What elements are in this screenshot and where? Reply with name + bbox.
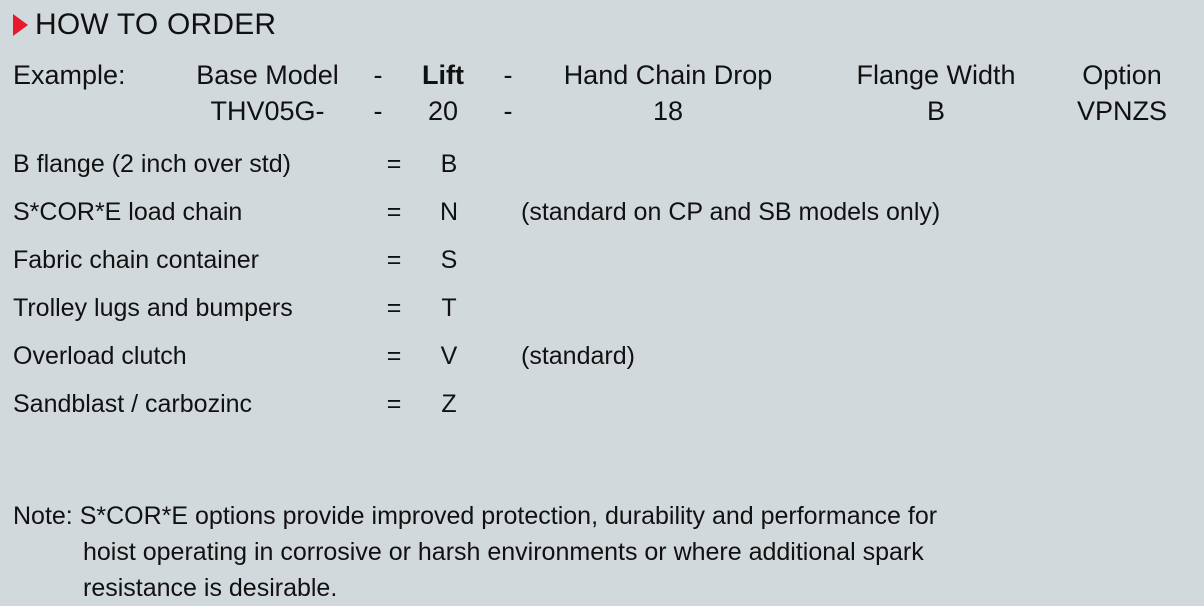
footnote-line-3: resistance is desirable. (13, 570, 1013, 606)
option-description: Sandblast / carbozinc (13, 387, 252, 421)
footnote-line-2: hoist operating in corrosive or harsh en… (13, 534, 1013, 570)
option-equals-sign: = (374, 291, 414, 325)
option-code-list: B flange (2 inch over std) = B S*COR*E l… (0, 147, 1204, 435)
option-description: Overload clutch (13, 339, 187, 373)
option-description: B flange (2 inch over std) (13, 147, 291, 181)
option-code: V (428, 339, 470, 373)
page-title: HOW TO ORDER (35, 8, 276, 42)
option-equals-sign: = (374, 147, 414, 181)
value-lift: 20 (404, 93, 482, 129)
option-row: B flange (2 inch over std) = B (0, 147, 1204, 195)
option-row: Sandblast / carbozinc = Z (0, 387, 1204, 435)
option-equals-sign: = (374, 195, 414, 229)
option-note: (standard) (521, 339, 635, 373)
option-row: S*COR*E load chain = N (standard on CP a… (0, 195, 1204, 243)
value-option: VPNZS (1046, 93, 1198, 129)
option-code: S (428, 243, 470, 277)
option-row: Overload clutch = V (standard) (0, 339, 1204, 387)
option-description: Trolley lugs and bumpers (13, 291, 293, 325)
red-triangle-right-icon (13, 14, 28, 36)
option-equals-sign: = (374, 339, 414, 373)
option-code: Z (428, 387, 470, 421)
option-code: B (428, 147, 470, 181)
example-label: Example: (13, 57, 153, 93)
option-code: N (428, 195, 470, 229)
footnote-line-1: Note: S*COR*E options provide improved p… (13, 498, 1013, 534)
header-hand-chain-drop: Hand Chain Drop (540, 57, 796, 93)
option-description: S*COR*E load chain (13, 195, 242, 229)
example-model-number-table: Example: Base Model - Lift - Hand Chain … (0, 57, 1204, 135)
value-separator-2: - (482, 93, 534, 129)
header-option: Option (1046, 57, 1198, 93)
footnote: Note: S*COR*E options provide improved p… (13, 498, 1013, 606)
header-separator-1: - (352, 57, 404, 93)
option-note: (standard on CP and SB models only) (521, 195, 940, 229)
value-hand-chain-drop: 18 (540, 93, 796, 129)
option-description: Fabric chain container (13, 243, 259, 277)
page-title-row: HOW TO ORDER (13, 5, 276, 45)
option-equals-sign: = (374, 243, 414, 277)
value-base-model: THV05G- (160, 93, 375, 129)
how-to-order-page: HOW TO ORDER Example: Base Model - Lift … (0, 0, 1204, 606)
option-code: T (428, 291, 470, 325)
option-row: Fabric chain container = S (0, 243, 1204, 291)
option-row: Trolley lugs and bumpers = T (0, 291, 1204, 339)
header-base-model: Base Model (160, 57, 375, 93)
header-separator-2: - (482, 57, 534, 93)
header-lift: Lift (404, 57, 482, 93)
option-equals-sign: = (374, 387, 414, 421)
value-separator-1: - (352, 93, 404, 129)
header-flange-width: Flange Width (830, 57, 1042, 93)
value-flange-width: B (830, 93, 1042, 129)
